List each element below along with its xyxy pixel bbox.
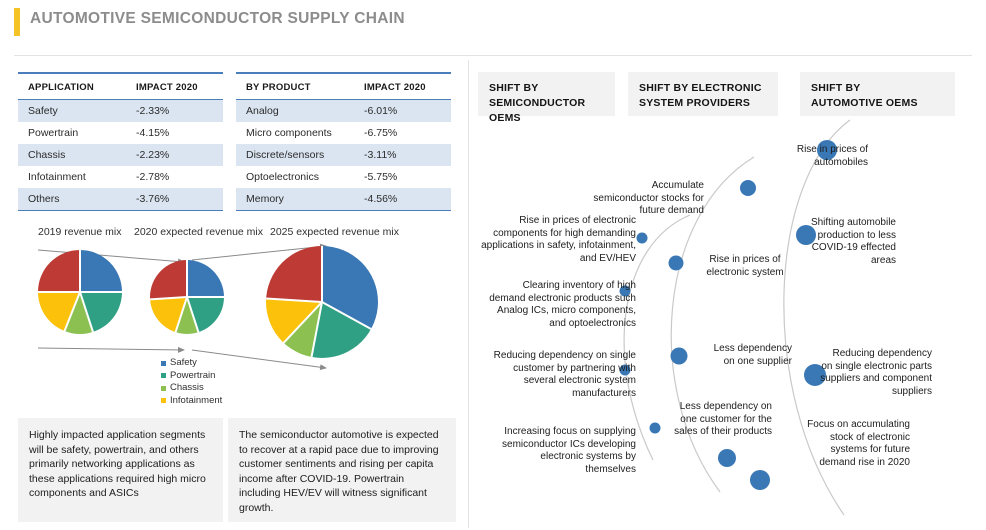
cell-impact: -2.78% [126,166,223,188]
cell-impact: -3.11% [354,144,451,166]
cell-application: Chassis [18,144,126,166]
table-row: Infotainment -2.78% [18,166,223,188]
cell-impact: -2.23% [126,144,223,166]
node-label-esp-2: Rise in prices of electronic system [700,254,790,279]
table-row: Optoelectronics -5.75% [236,166,451,188]
legend-label: Infotainment [170,395,222,408]
page-header: AUTOMOTIVE SEMICONDUCTOR SUPPLY CHAIN [0,0,986,56]
table-row: Chassis -2.23% [18,144,223,166]
cell-product: Analog [236,100,354,123]
cell-product: Discrete/sensors [236,144,354,166]
revenue-mix-chart: 2019 revenue mix 2020 expected revenue m… [16,222,456,407]
node-label-semiconductor-3: Reducing dependency on single customer b… [492,350,636,400]
table-row: Discrete/sensors -3.11% [236,144,451,166]
cell-product: Optoelectronics [236,166,354,188]
legend-item: Safety [161,357,222,370]
node-label-semiconductor-1: Rise in prices of electronic components … [472,215,636,265]
node-label-esp-3: Less dependency on one supplier [700,343,792,368]
cell-impact: -3.76% [126,188,223,211]
table-header-row: BY PRODUCT IMPACT 2020 [236,76,451,100]
column-header: BY PRODUCT [236,76,354,100]
legend-item: Chassis [161,382,222,395]
header-accent-bar [14,8,20,36]
cell-application: Infotainment [18,166,126,188]
node-dot-semiconductor-4[interactable] [650,423,661,434]
column-header: IMPACT 2020 [354,76,451,100]
cell-impact: -6.01% [354,100,451,123]
cell-application: Safety [18,100,126,123]
cell-product: Memory [236,188,354,211]
legend-label: Chassis [170,382,204,395]
node-dot-esp-1[interactable] [740,180,756,196]
node-label-automotive-4: Focus on accumulating stock of electroni… [798,419,910,469]
table-row: Analog -6.01% [236,100,451,123]
cell-impact: -6.75% [354,122,451,144]
node-label-semiconductor-2: Clearing inventory of high demand electr… [486,280,636,330]
node-label-automotive-1: Rise in prices of automobiles [768,144,868,169]
page-title: AUTOMOTIVE SEMICONDUCTOR SUPPLY CHAIN [30,10,405,28]
pie-chart-2020 [150,260,224,334]
legend-swatch-chassis [161,386,166,391]
cell-application: Others [18,188,126,211]
node-label-automotive-3: Reducing dependency on single electronic… [820,348,932,398]
callout-application-impact: Highly impacted application segments wil… [18,418,223,522]
node-dot-esp-2[interactable] [669,256,684,271]
node-label-esp-4: Less dependency on one customer for the … [662,401,772,439]
node-dot-esp-3[interactable] [671,348,688,365]
pie-chart-2019 [38,250,122,334]
table-row: Memory -4.56% [236,188,451,211]
legend-label: Safety [170,357,197,370]
legend-label: Powertrain [170,370,215,383]
legend-swatch-powertrain [161,373,166,378]
cell-impact: -4.56% [354,188,451,211]
callout-recovery-outlook: The semiconductor automotive is expected… [228,418,456,522]
table-row: Others -3.76% [18,188,223,211]
pie-legend: Safety Powertrain Chassis Infotainment [161,357,222,407]
table-header-row: APPLICATION IMPACT 2020 [18,76,223,100]
cell-product: Micro components [236,122,354,144]
table-row: Safety -2.33% [18,100,223,123]
column-header: APPLICATION [18,76,126,100]
table-application: APPLICATION IMPACT 2020 Safety -2.33% Po… [18,72,223,211]
column-header: IMPACT 2020 [126,76,223,100]
node-label-esp-1: Accumulate semiconductor stocks for futu… [592,180,704,218]
node-dot-esp-4[interactable] [718,449,736,467]
node-label-automotive-2: Shifting automobile production to less C… [784,217,896,267]
legend-swatch-safety [161,361,166,366]
cell-impact: -2.33% [126,100,223,123]
pie-chart-2025 [266,246,378,358]
table-by-product: BY PRODUCT IMPACT 2020 Analog -6.01% Mic… [236,72,451,211]
node-dot-semiconductor-1[interactable] [637,233,648,244]
node-dot-automotive-4[interactable] [750,470,770,490]
cell-application: Powertrain [18,122,126,144]
header-divider [14,55,972,56]
legend-swatch-infotainment [161,398,166,403]
table-row: Micro components -6.75% [236,122,451,144]
cell-impact: -5.75% [354,166,451,188]
legend-item: Powertrain [161,370,222,383]
legend-item: Infotainment [161,395,222,408]
table-row: Powertrain -4.15% [18,122,223,144]
node-label-semiconductor-4: Increasing focus on supplying semiconduc… [490,426,636,476]
cell-impact: -4.15% [126,122,223,144]
